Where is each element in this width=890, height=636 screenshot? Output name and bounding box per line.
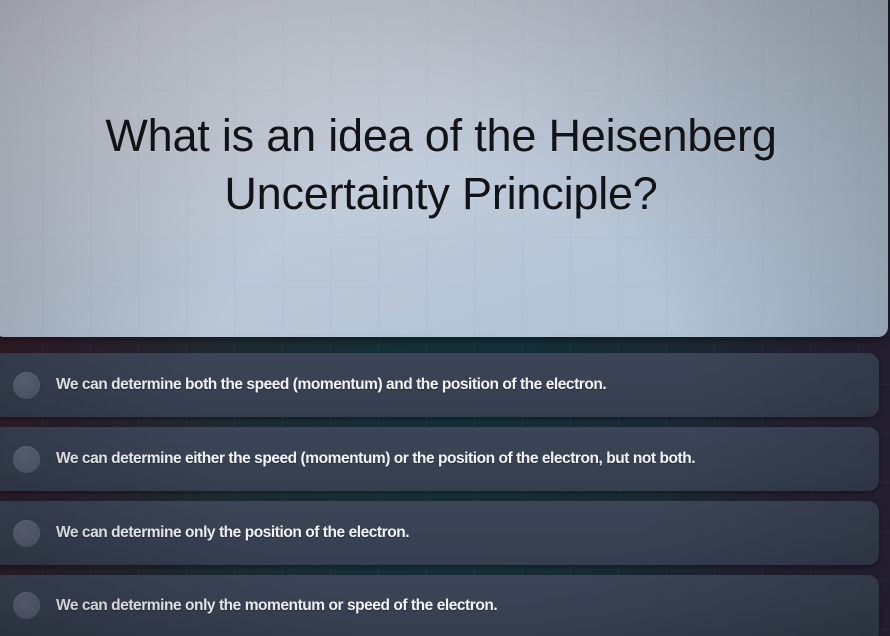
answer-option-2[interactable]: We can determine only the position of th… xyxy=(0,501,879,565)
answer-option-1-label: We can determine either the speed (momen… xyxy=(56,449,695,469)
question-card: What is an idea of the Heisenberg Uncert… xyxy=(0,0,888,337)
answer-option-0-label: We can determine both the speed (momentu… xyxy=(56,375,606,395)
radio-circle-icon[interactable] xyxy=(13,520,40,547)
question-text: What is an idea of the Heisenberg Uncert… xyxy=(46,107,836,227)
answer-option-3[interactable]: We can determine only the momentum or sp… xyxy=(0,575,879,636)
radio-circle-icon[interactable] xyxy=(13,372,40,399)
answer-option-1[interactable]: We can determine either the speed (momen… xyxy=(0,427,879,491)
radio-circle-icon[interactable] xyxy=(13,446,40,473)
answer-option-3-label: We can determine only the momentum or sp… xyxy=(56,596,497,616)
answer-option-2-label: We can determine only the position of th… xyxy=(56,523,409,543)
quiz-screen: What is an idea of the Heisenberg Uncert… xyxy=(0,0,890,636)
radio-circle-icon[interactable] xyxy=(13,592,40,619)
answer-option-0[interactable]: We can determine both the speed (momentu… xyxy=(0,353,879,417)
